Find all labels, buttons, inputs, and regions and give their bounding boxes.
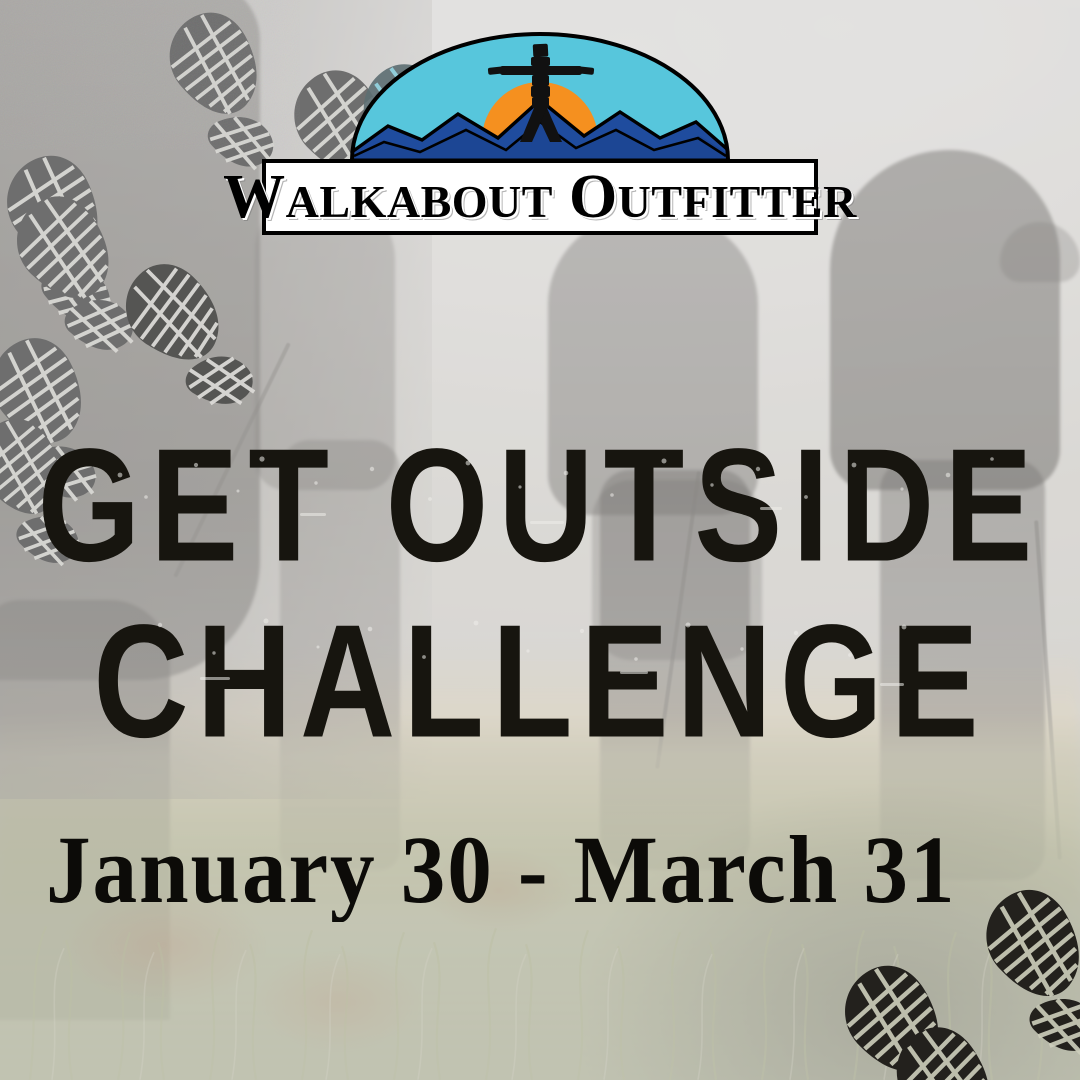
logo-illustration bbox=[348, 30, 732, 162]
wordmark-walkabout-rest: ALKABOUT bbox=[286, 176, 553, 227]
wordmark-w-cap: W bbox=[223, 163, 286, 231]
logo-arc-emblem bbox=[348, 30, 732, 162]
brand-logo[interactable]: WALKABOUTOUTFITTER bbox=[260, 30, 820, 235]
brand-wordmark-text: WALKABOUTOUTFITTER bbox=[223, 166, 857, 228]
brand-wordmark-box[interactable]: WALKABOUTOUTFITTER bbox=[262, 159, 818, 235]
poster-canvas: WALKABOUTOUTFITTER GET OUTSIDE CHALLENGE bbox=[0, 0, 1080, 1080]
date-range-text: January 30 - March 31 bbox=[46, 818, 1032, 922]
wordmark-outfitter-rest: UTFITTER bbox=[618, 176, 857, 227]
date-range-block: January 30 - March 31 bbox=[46, 818, 1080, 922]
wordmark-o-cap: O bbox=[569, 163, 618, 231]
